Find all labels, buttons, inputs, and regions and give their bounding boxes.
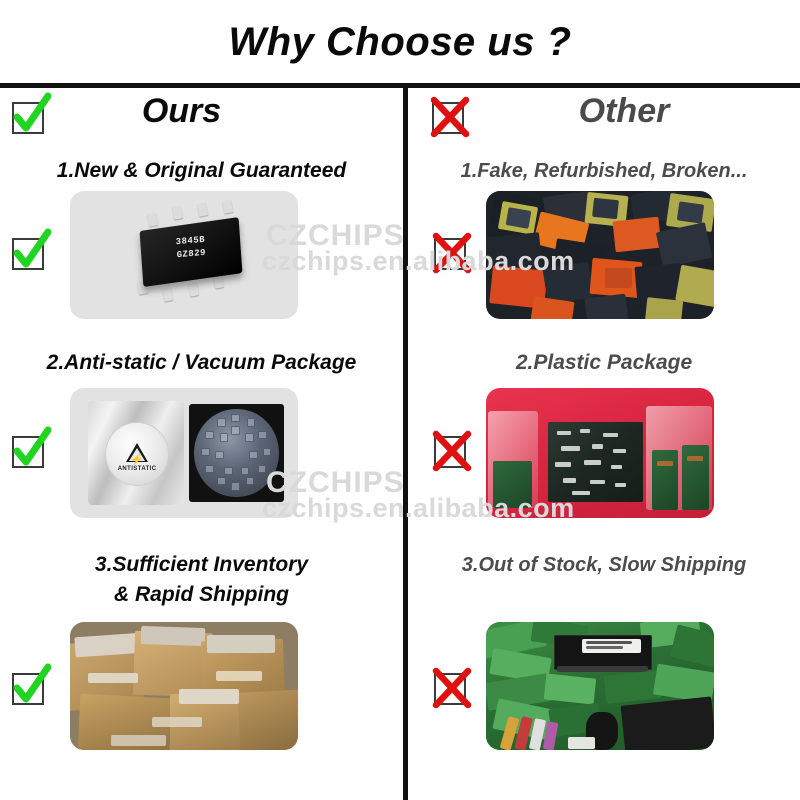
reel-disc: ⚡ ANTISTATIC: [105, 422, 168, 486]
check-mark-icon: [8, 428, 52, 472]
ours-item-1-photo: 3845B GZ829: [70, 191, 298, 319]
ours-item-3-photo: [70, 622, 298, 750]
chip-body: 3845B GZ829: [139, 217, 242, 287]
antistatic-label: ANTISTATIC: [106, 466, 167, 472]
ours-item-2-title: 2.Anti-static / Vacuum Package: [0, 350, 403, 376]
ic-chip-sop8-image: 3845B GZ829: [70, 191, 298, 319]
other-item-2: 2.Plastic Package: [408, 350, 800, 550]
column-other-header: Other: [408, 86, 800, 158]
ours-item-2-photo: ⚡ ANTISTATIC: [70, 388, 298, 518]
antistatic-vacuum-bag-image: ⚡ ANTISTATIC: [70, 388, 298, 518]
lightning-bolt-icon: ⚡: [130, 455, 144, 466]
column-other: Other 1.Fake, Refurbished, Broken...: [408, 86, 800, 800]
reel-tape-disc: [194, 409, 278, 498]
ours-item-2: 2.Anti-static / Vacuum Package ⚡ ANTISTA…: [0, 350, 403, 550]
other-item-2-photo: [486, 388, 714, 518]
other-item-3-photo: [486, 622, 714, 750]
check-mark-icon: [8, 230, 52, 274]
cross-mark-icon: [430, 428, 474, 472]
other-item-3-title: 3.Out of Stock, Slow Shipping: [408, 552, 800, 578]
check-mark-icon: [8, 665, 52, 709]
column-other-label: Other: [408, 92, 800, 131]
column-ours-header: Ours: [0, 86, 403, 158]
why-choose-us-infographic: Why Choose us ? Ours 1.New & Original Gu…: [0, 0, 800, 800]
ours-item-1-title: 1.New & Original Guaranteed: [0, 158, 403, 184]
other-item-3: 3.Out of Stock, Slow Shipping: [408, 550, 800, 790]
main-pcb-board: [548, 422, 644, 503]
green-scrap-pcb-image: [486, 622, 714, 750]
scrap-cpu-chips-image: [486, 191, 714, 319]
ours-item-1: 1.New & Original Guaranteed: [0, 158, 403, 350]
other-item-1-photo: [486, 191, 714, 319]
page-title: Why Choose us ?: [228, 20, 571, 65]
antistatic-bag: ⚡ ANTISTATIC: [88, 401, 184, 505]
column-ours: Ours 1.New & Original Guaranteed: [0, 86, 403, 800]
cross-mark-icon: [430, 230, 474, 274]
ours-item-3: 3.Sufficient Inventory & Rapid Shipping: [0, 550, 403, 790]
column-ours-label: Ours: [0, 92, 403, 131]
other-item-1: 1.Fake, Refurbished, Broken...: [408, 158, 800, 350]
other-item-2-title: 2.Plastic Package: [408, 350, 800, 376]
component-reel-tray: [189, 404, 285, 503]
cardboard-boxes-image: [70, 622, 298, 750]
cross-mark-icon: [430, 665, 474, 709]
other-item-1-title: 1.Fake, Refurbished, Broken...: [408, 158, 800, 184]
ours-item-3-title-line-2: & Rapid Shipping: [0, 580, 403, 610]
plastic-bagged-pcb-image: [486, 388, 714, 518]
page-title-bar: Why Choose us ?: [0, 0, 800, 85]
ours-item-3-title-line-1: 3.Sufficient Inventory: [0, 550, 403, 580]
